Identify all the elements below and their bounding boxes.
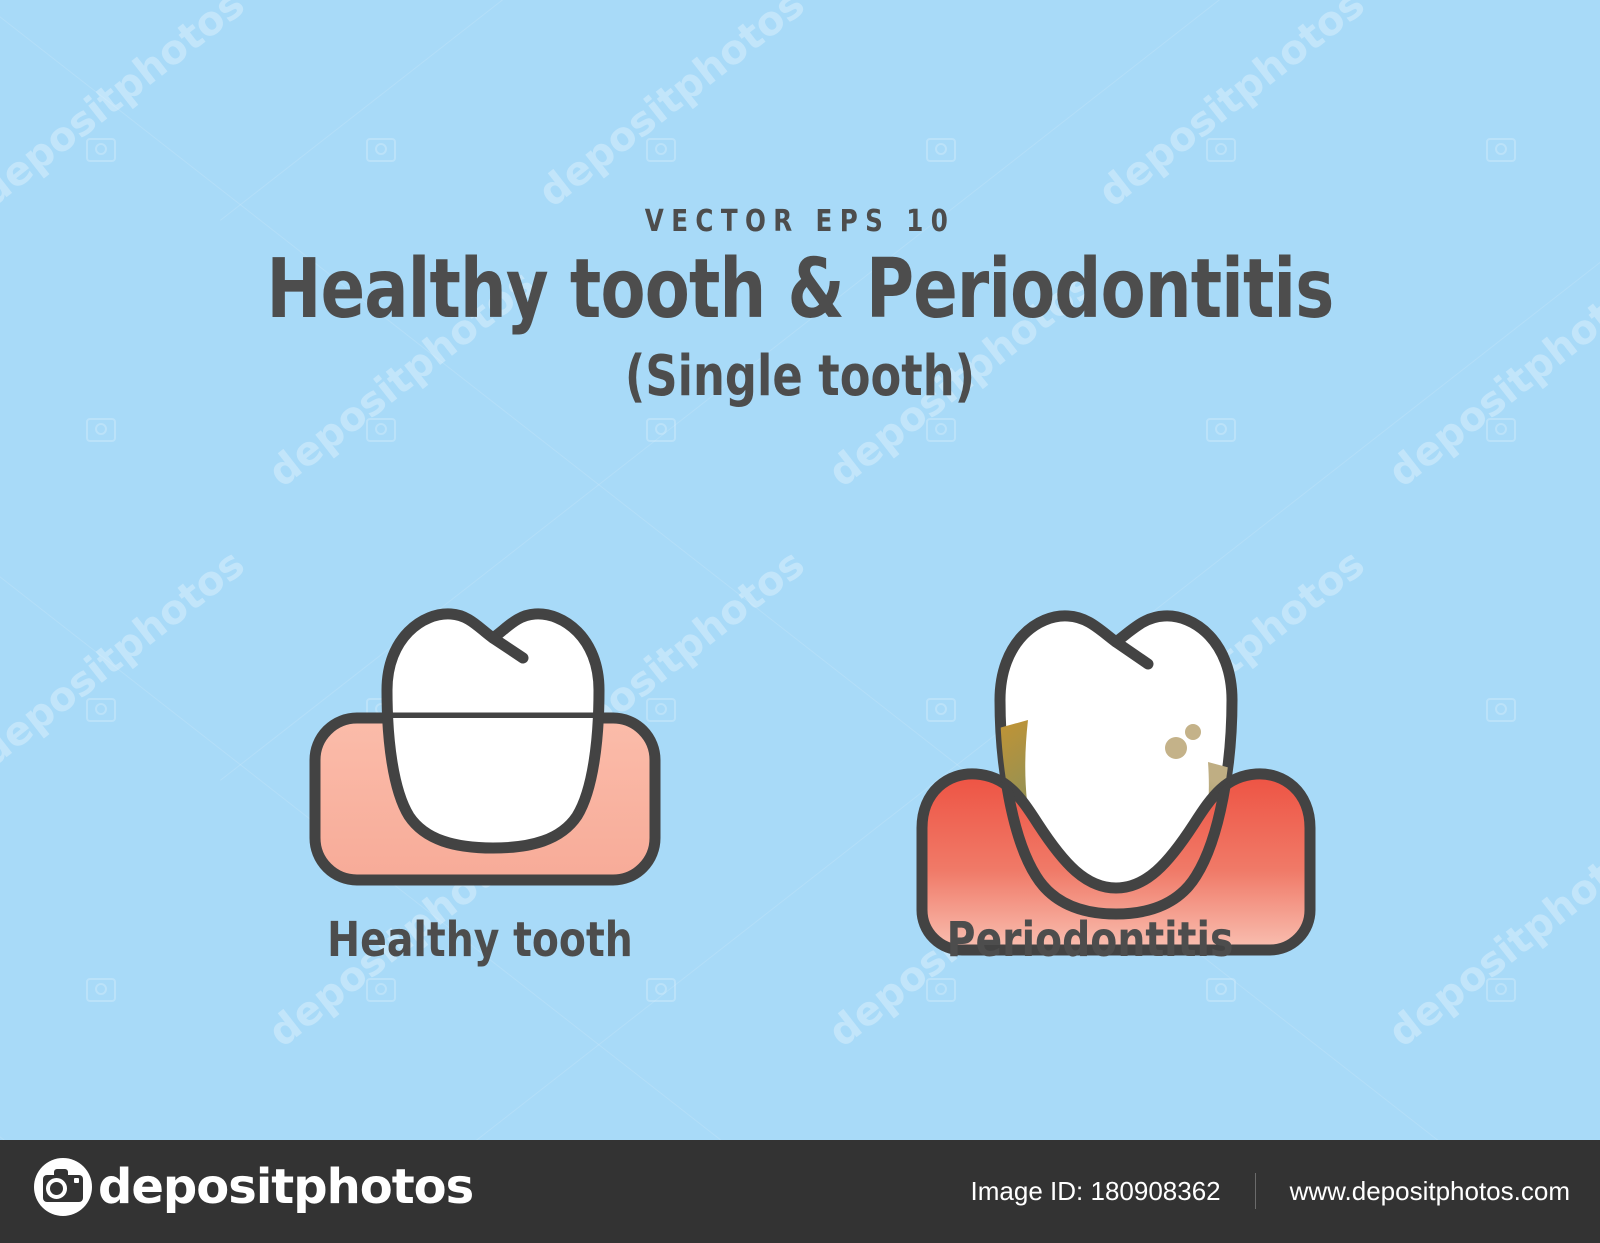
watermark-diagonal-line	[0, 420, 1600, 1140]
watermark-text: depositphotos	[530, 0, 813, 216]
watermark-layer: depositphotos depositphotos depositphoto…	[0, 0, 1600, 1140]
camera-icon	[366, 418, 396, 442]
camera-icon	[1206, 418, 1236, 442]
camera-icon	[86, 418, 116, 442]
heading-block: VECTOR EPS 10 Healthy tooth & Periodonti…	[0, 204, 1600, 405]
camera-flash-icon	[74, 1178, 79, 1183]
watermark-diagonal-line	[0, 0, 1600, 1140]
depositphotos-logo[interactable]: depositphotos	[34, 1158, 473, 1216]
eyebrow-label: VECTOR EPS 10	[144, 204, 1456, 239]
camera-icon	[926, 418, 956, 442]
page-subtitle: (Single tooth)	[160, 349, 1440, 405]
watermark-text: depositphotos	[0, 541, 253, 776]
watermark-text: depositphotos	[1380, 821, 1600, 1056]
camera-icon	[1486, 978, 1516, 1002]
screenshot-canvas: depositphotos depositphotos depositphoto…	[0, 0, 1600, 1243]
camera-icon	[1206, 138, 1236, 162]
watermark-diagonal-line	[0, 980, 1600, 1140]
caption-periodontitis: Periodontitis	[893, 912, 1287, 968]
camera-icon	[1486, 418, 1516, 442]
camera-icon	[366, 138, 396, 162]
camera-icon	[646, 418, 676, 442]
camera-icon	[34, 1158, 92, 1216]
brand-name: depositphotos	[98, 1159, 473, 1215]
camera-icon	[926, 138, 956, 162]
caption-healthy-tooth: Healthy tooth	[283, 912, 677, 968]
camera-lens-icon	[46, 1178, 67, 1199]
footer-meta: Image ID: 180908362 www.depositphotos.co…	[971, 1173, 1570, 1209]
watermark-text: depositphotos	[0, 0, 253, 216]
calculus-spot	[1165, 737, 1187, 759]
image-id-label: Image ID: 180908362	[971, 1176, 1255, 1207]
page-title: Healthy tooth & Periodontitis	[160, 249, 1440, 331]
website-link[interactable]: www.depositphotos.com	[1256, 1176, 1570, 1207]
camera-icon	[86, 698, 116, 722]
camera-icon	[1486, 698, 1516, 722]
camera-icon	[86, 138, 116, 162]
watermark-text: depositphotos	[1090, 0, 1373, 216]
calculus-spot	[1185, 724, 1201, 740]
camera-icon	[646, 138, 676, 162]
camera-icon	[1486, 138, 1516, 162]
camera-icon	[86, 978, 116, 1002]
watermark-diagonal-line	[220, 0, 1600, 221]
